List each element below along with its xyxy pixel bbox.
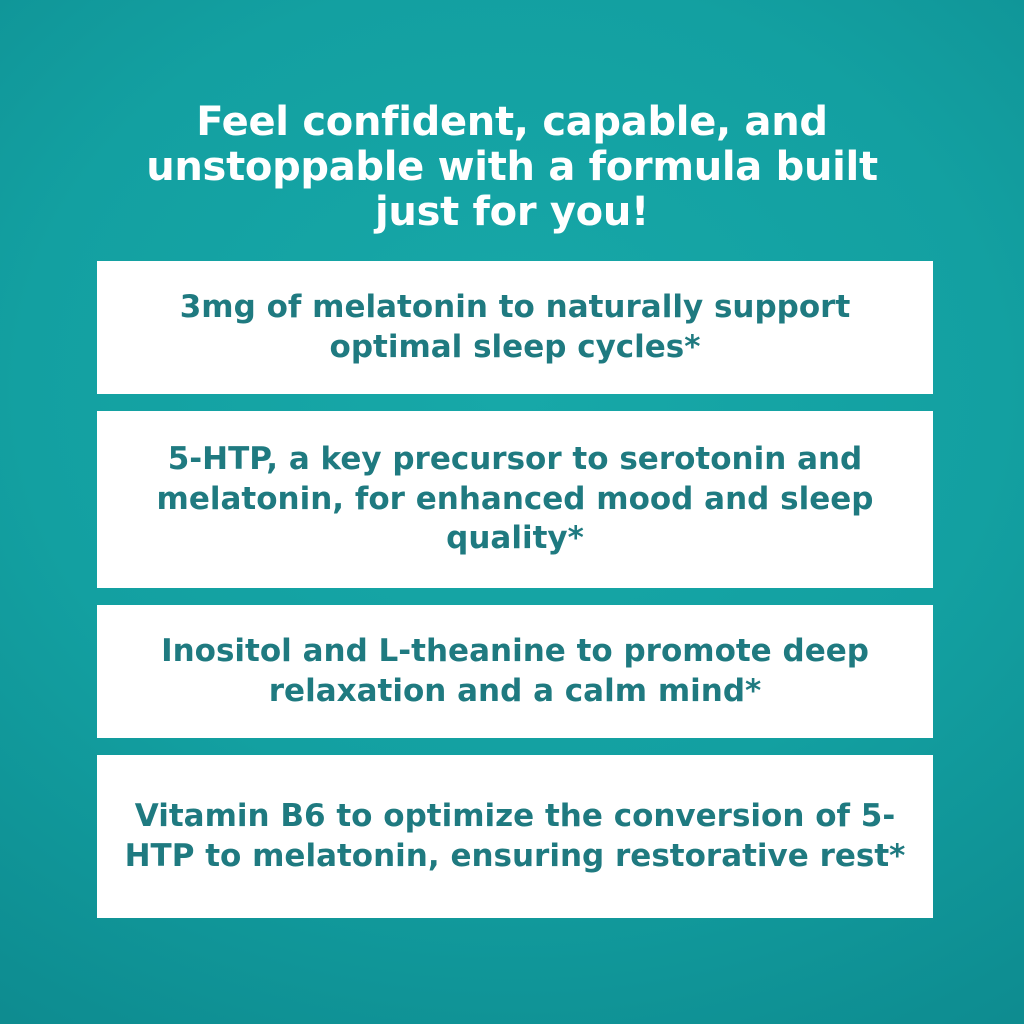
benefit-card-5-htp: 5-HTP, a key precursor to serotonin and … [97, 411, 933, 588]
benefit-card-list: 3mg of melatonin to naturally support op… [97, 261, 933, 935]
benefit-card-inositol-l-theanine: Inositol and L-theanine to promote deep … [97, 605, 933, 738]
benefit-card-vitamin-b6: Vitamin B6 to optimize the conversion of… [97, 755, 933, 918]
benefit-card-text: Vitamin B6 to optimize the conversion of… [123, 797, 907, 876]
page-title: Feel confident, capable, and unstoppable… [0, 100, 1024, 234]
headline-line2-plain: with a formula built [424, 144, 878, 190]
benefit-card-text: Inositol and L-theanine to promote deep … [123, 632, 907, 711]
headline-line3-plain: just for you! [375, 189, 649, 235]
promo-poster: Feel confident, capable, and unstoppable… [0, 0, 1024, 1024]
headline-line2-bold: unstoppable [146, 144, 424, 190]
headline-line1-plain: Feel [196, 99, 302, 145]
benefit-card-melatonin: 3mg of melatonin to naturally support op… [97, 261, 933, 394]
headline-line1-bold: confident, capable, and [302, 99, 827, 145]
benefit-card-text: 3mg of melatonin to naturally support op… [123, 288, 907, 367]
benefit-card-text: 5-HTP, a key precursor to serotonin and … [123, 440, 907, 559]
